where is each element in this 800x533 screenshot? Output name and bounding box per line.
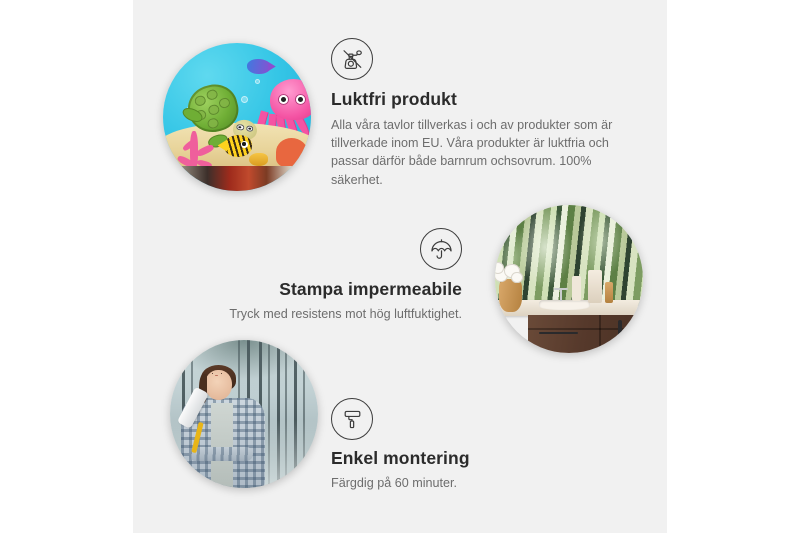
feature-title: Luktfri produkt bbox=[331, 89, 623, 111]
bathroom-leaf-wallpaper-photo bbox=[495, 205, 643, 353]
umbrella-icon bbox=[420, 228, 462, 270]
feature-description: Alla våra tavlor tillverkas i och av pro… bbox=[331, 116, 623, 189]
no-perfume-spray-icon bbox=[331, 38, 373, 80]
underwater-cartoon-wallpaper-photo bbox=[163, 43, 311, 191]
woman-paint-roller-photo bbox=[170, 340, 318, 488]
feature-waterproof: Stampa impermeabile Tryck med resistens … bbox=[170, 228, 462, 323]
feature-description: Tryck med resistens mot hög luftfuktighe… bbox=[170, 305, 462, 323]
feature-easy-install: Enkel montering Färgdig på 60 minuter. bbox=[331, 398, 623, 492]
paint-roller-icon bbox=[331, 398, 373, 440]
feature-title: Enkel montering bbox=[331, 448, 623, 470]
feature-odourless: Luktfri produkt Alla våra tavlor tillver… bbox=[331, 38, 623, 189]
feature-description: Färgdig på 60 minuter. bbox=[331, 474, 623, 492]
feature-title: Stampa impermeabile bbox=[170, 279, 462, 301]
product-feature-infographic: Luktfri produkt Alla våra tavlor tillver… bbox=[0, 0, 800, 533]
